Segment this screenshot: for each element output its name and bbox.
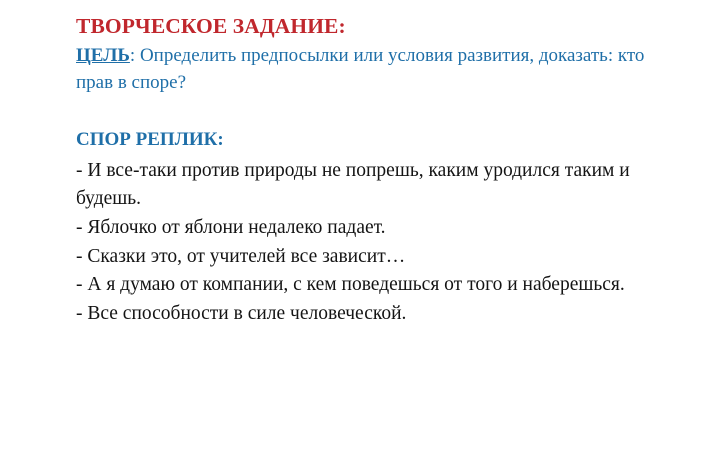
page-title: ТВОРЧЕСКОЕ ЗАДАНИЕ:: [76, 12, 686, 41]
section-spacer: [76, 97, 686, 127]
slide-canvas: ТВОРЧЕСКОЕ ЗАДАНИЕ: ЦЕЛЬ: Определить пре…: [0, 0, 720, 455]
goal-label: ЦЕЛЬ: [76, 45, 130, 66]
list-item: - А я думаю от компании, с кем поведешьс…: [76, 271, 686, 300]
goal-text: : Определить предпосылки или условия раз…: [76, 45, 644, 93]
goal-paragraph: ЦЕЛЬ: Определить предпосылки или условия…: [76, 43, 686, 97]
list-item: - Все способности в силе человеческой.: [76, 300, 686, 329]
replies-list: - И все-таки против природы не попрешь, …: [76, 157, 686, 329]
section-heading-replies: СПОР РЕПЛИК:: [76, 127, 686, 154]
list-item: - Сказки это, от учителей все зависит…: [76, 243, 686, 272]
slide-content-area: ТВОРЧЕСКОЕ ЗАДАНИЕ: ЦЕЛЬ: Определить пре…: [76, 12, 686, 329]
list-item: - И все-таки против природы не попрешь, …: [76, 157, 686, 214]
list-item: - Яблочко от яблони недалеко падает.: [76, 214, 686, 243]
